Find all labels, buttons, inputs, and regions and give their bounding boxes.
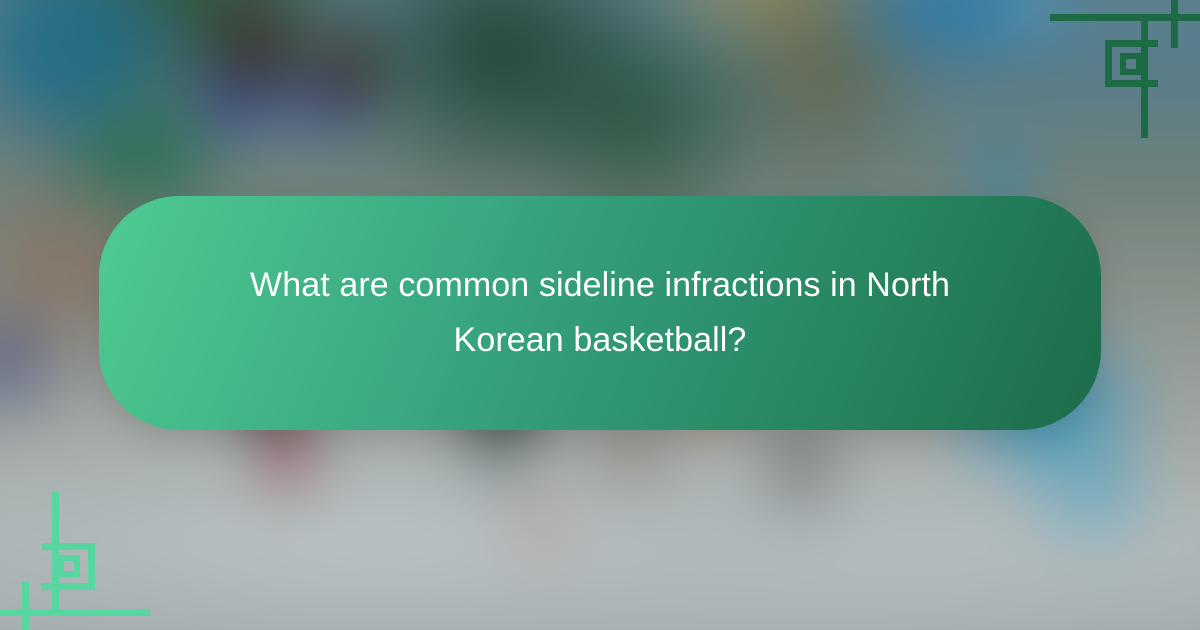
bracket-inner-square [58, 555, 80, 577]
bracket-square-bottom-side [1106, 80, 1158, 87]
question-text: What are common sideline infractions in … [195, 258, 1005, 368]
question-card-canvas: What are common sideline infractions in … [0, 0, 1200, 630]
bracket-square-left-side [1105, 40, 1112, 87]
bracket-vertical-edge [1171, 0, 1178, 48]
bracket-inner-square [1120, 53, 1142, 75]
bracket-square-left-side [88, 543, 95, 590]
corner-bracket-bottom-left-icon [0, 490, 160, 630]
bracket-square-bottom-side [42, 543, 94, 550]
corner-bracket-top-right-icon [1050, 0, 1200, 140]
bracket-vertical-edge [22, 582, 29, 630]
bracket-vertical-stem [1141, 20, 1148, 138]
bracket-vertical-stem [52, 492, 59, 610]
question-card: What are common sideline infractions in … [99, 196, 1101, 430]
bracket-square-top-side [1106, 40, 1158, 47]
bracket-square-top-side [42, 583, 94, 590]
